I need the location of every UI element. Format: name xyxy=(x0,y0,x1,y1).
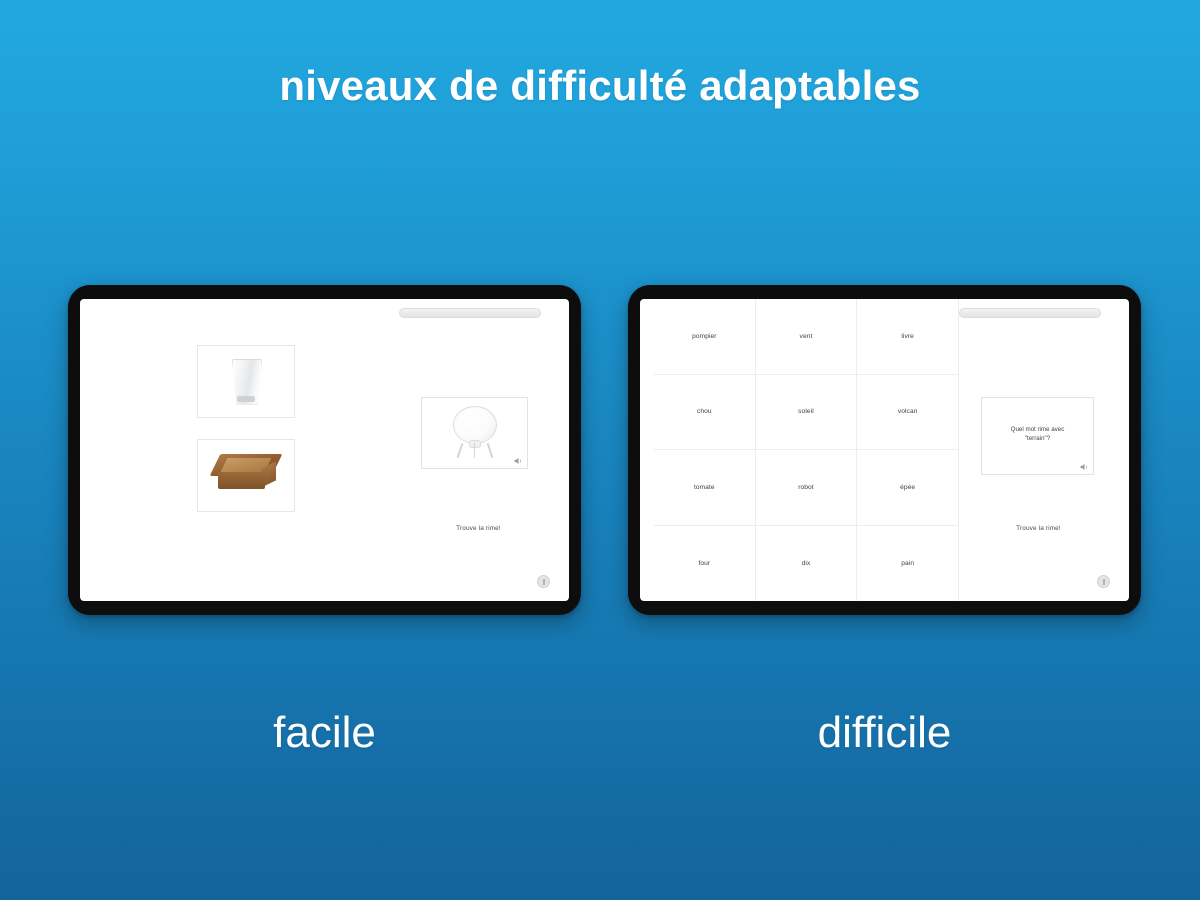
word-cell[interactable]: livre xyxy=(857,299,959,375)
picture-choice-crate[interactable] xyxy=(197,439,295,512)
prompt-question-line1: Quel mot rime avec xyxy=(989,425,1086,434)
word-choice-grid: pompier vent livre chou soleil volcan to… xyxy=(654,299,959,601)
gear-icon[interactable] xyxy=(537,575,550,588)
tablet-screen-easy: Trouve la rime! xyxy=(80,299,569,601)
tablet-screen-hard: pompier vent livre chou soleil volcan to… xyxy=(640,299,1129,601)
tablet-device-easy: Trouve la rime! xyxy=(68,285,581,615)
word-cell[interactable]: vent xyxy=(756,299,858,375)
tablet-device-hard: pompier vent livre chou soleil volcan to… xyxy=(628,285,1141,615)
prompt-card-hard[interactable]: Quel mot rime avec "terrain"? xyxy=(981,397,1094,475)
tablet-comparison-stage: Trouve la rime! pompier vent livre chou … xyxy=(0,285,1200,625)
gear-icon[interactable] xyxy=(1097,575,1110,588)
instruction-text-easy: Trouve la rime! xyxy=(421,525,536,532)
speaker-icon[interactable] xyxy=(514,457,523,465)
balloon-icon xyxy=(448,406,502,458)
word-cell[interactable]: dix xyxy=(756,526,858,602)
crate-icon xyxy=(215,454,277,498)
picture-choice-list xyxy=(197,345,295,512)
glass-icon xyxy=(229,359,263,405)
word-cell[interactable]: four xyxy=(654,526,756,602)
drag-handle-icon[interactable] xyxy=(399,308,541,318)
difficulty-label-hard: difficile xyxy=(628,708,1141,758)
word-cell[interactable]: robot xyxy=(756,450,858,526)
page-title: niveaux de difficulté adaptables xyxy=(0,62,1200,110)
drag-handle-icon[interactable] xyxy=(959,308,1101,318)
prompt-card-easy[interactable] xyxy=(421,397,528,469)
difficulty-label-easy: facile xyxy=(68,708,581,758)
word-cell[interactable]: épée xyxy=(857,450,959,526)
word-cell[interactable]: pompier xyxy=(654,299,756,375)
prompt-question-line2: "terrain"? xyxy=(989,434,1086,443)
word-cell[interactable]: volcan xyxy=(857,375,959,451)
picture-choice-glass[interactable] xyxy=(197,345,295,418)
word-cell[interactable]: chou xyxy=(654,375,756,451)
word-cell[interactable]: pain xyxy=(857,526,959,602)
prompt-question: Quel mot rime avec "terrain"? xyxy=(989,425,1086,444)
word-cell[interactable]: soleil xyxy=(756,375,858,451)
speaker-icon[interactable] xyxy=(1080,463,1089,471)
instruction-text-hard: Trouve la rime! xyxy=(981,525,1096,532)
word-cell[interactable]: tomate xyxy=(654,450,756,526)
